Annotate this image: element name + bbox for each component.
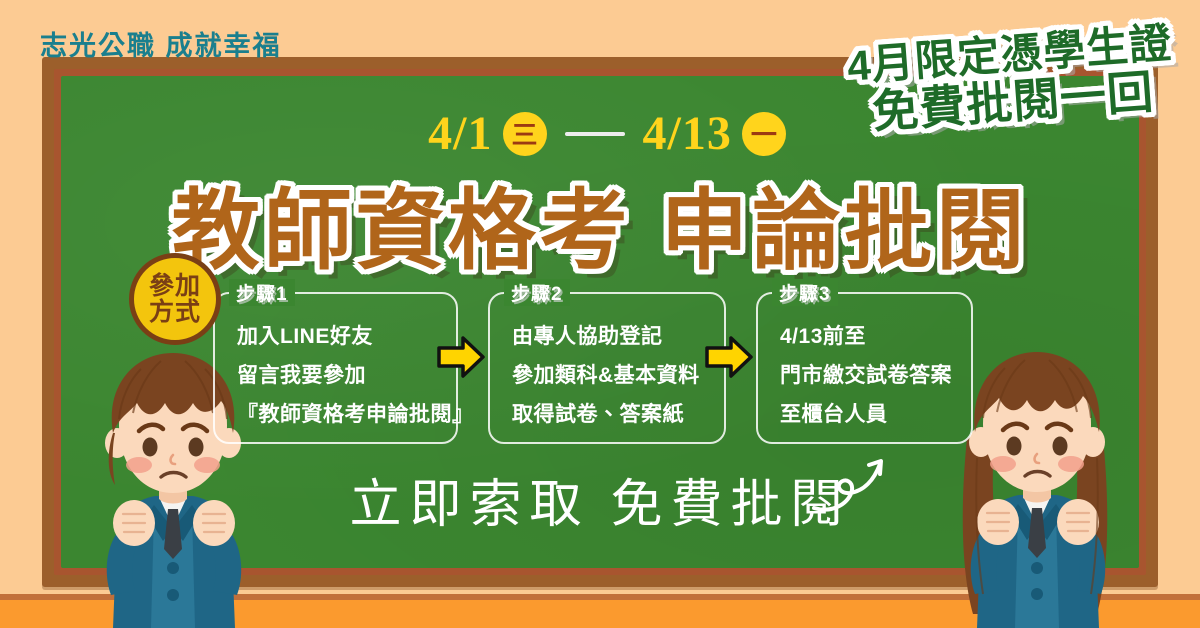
join-badge-line-1: 參加 — [149, 273, 201, 300]
step-1-line-3: 『教師資格考申論批閱』 — [237, 398, 444, 428]
step-3-line-3: 至櫃台人員 — [780, 398, 959, 428]
step-2-line-2: 參加類科&基本資料 — [512, 359, 712, 389]
promo-poster: 志光公職 成就幸福 4月限定憑學生證 免費批閱一回 4/1 三 4/13 一 教… — [0, 0, 1200, 628]
step-3-line-1: 4/13前至 — [780, 320, 959, 350]
step-2-line-3: 取得試卷、答案紙 — [512, 398, 712, 428]
step-1-lines: 加入LINE好友 留言我要參加 『教師資格考申論批閱』 — [237, 320, 444, 428]
end-weekday-badge: 一 — [742, 112, 786, 156]
step-2-line-1: 由專人協助登記 — [512, 320, 712, 350]
step-card-2: 步驟2 由專人協助登記 參加類科&基本資料 取得試卷、答案紙 — [488, 292, 726, 444]
arrow-right-icon — [705, 335, 753, 379]
curly-arrow-up-icon — [810, 452, 890, 522]
step-1-line-1: 加入LINE好友 — [237, 320, 444, 350]
arrow-right-icon — [437, 335, 485, 379]
step-card-1: 步驟1 加入LINE好友 留言我要參加 『教師資格考申論批閱』 — [213, 292, 458, 444]
join-badge-line-2: 方式 — [149, 299, 201, 326]
step-1-line-2: 留言我要參加 — [237, 359, 444, 389]
cta-text: 立即索取 免費批閱 — [0, 462, 1200, 537]
date-range-dash — [565, 132, 625, 136]
step-3-line-2: 門市繳交試卷答案 — [780, 359, 959, 389]
step-card-3: 步驟3 4/13前至 門市繳交試卷答案 至櫃台人員 — [756, 292, 973, 444]
step-2-lines: 由專人協助登記 參加類科&基本資料 取得試卷、答案紙 — [512, 320, 712, 428]
cta-label: 立即索取 免費批閱 — [349, 477, 850, 534]
page-title-text: 教師資格考 申論批閱 — [172, 181, 1028, 280]
brand-slogan: 志光公職 成就幸福 — [40, 24, 282, 63]
end-date: 4/13 — [643, 106, 732, 161]
start-date: 4/1 — [428, 106, 492, 161]
start-weekday-badge: 三 — [503, 112, 547, 156]
steps-container: 步驟1 加入LINE好友 留言我要參加 『教師資格考申論批閱』 步驟2 由專人協… — [213, 292, 973, 444]
join-method-badge: 參加 方式 — [129, 253, 221, 345]
step-3-lines: 4/13前至 門市繳交試卷答案 至櫃台人員 — [780, 320, 959, 428]
